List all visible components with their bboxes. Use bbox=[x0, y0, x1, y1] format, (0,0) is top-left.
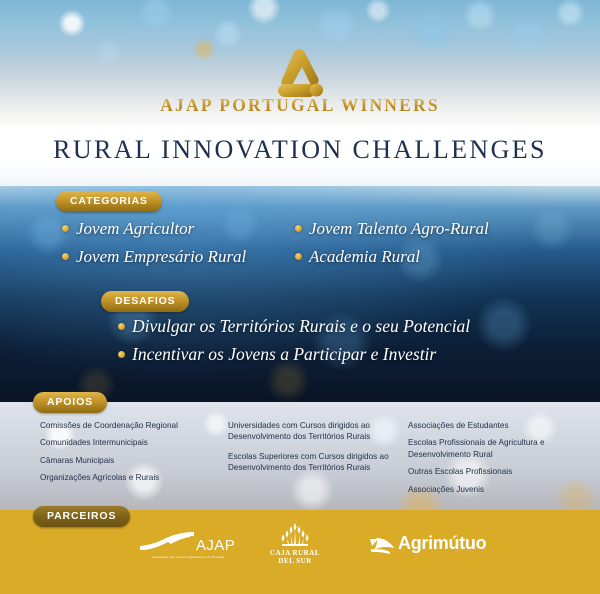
partner-logo-caja-rural-del-sur: CAJA RURAL DEL SUR bbox=[263, 522, 327, 568]
list-item-categoria: Academia Rural bbox=[295, 247, 420, 267]
apoios-item: Associações de Estudantes bbox=[408, 420, 583, 431]
brand-line: AJAP PORTUGAL WINNERS bbox=[0, 95, 600, 116]
agrimutuo-leaf-icon bbox=[368, 535, 396, 557]
ajap-swoosh-icon bbox=[138, 528, 198, 554]
list-item-categoria: Jovem Empresário Rural bbox=[62, 247, 246, 267]
bullet-dot-icon bbox=[62, 225, 69, 232]
list-item-label: Jovem Empresário Rural bbox=[76, 247, 246, 267]
list-item-categoria: Jovem Talento Agro-Rural bbox=[295, 219, 489, 239]
wheat-sheaf-icon bbox=[263, 522, 327, 550]
apoios-item: Comissões de Coordenação Regional bbox=[40, 420, 220, 431]
apoios-item: Associações Juvenis bbox=[408, 484, 583, 495]
bullet-dot-icon bbox=[118, 323, 125, 330]
caja-line-1: CAJA RURAL bbox=[263, 549, 327, 557]
bullet-dot-icon bbox=[62, 253, 69, 260]
badge-desafios: DESAFIOS bbox=[101, 291, 189, 312]
list-item-desafio: Divulgar os Territórios Rurais e o seu P… bbox=[118, 316, 470, 337]
bullet-dot-icon bbox=[295, 225, 302, 232]
apoios-item: Escolas Profissionais de Agricultura e D… bbox=[408, 437, 583, 460]
apoios-item: Organizações Agrícolas e Rurais bbox=[40, 472, 220, 483]
badge-categorias: CATEGORIAS bbox=[56, 191, 162, 212]
list-item-label: Incentivar os Jovens a Participar e Inve… bbox=[132, 344, 436, 365]
apoios-column: Universidades com Cursos dirigidos ao De… bbox=[228, 420, 398, 482]
list-item-label: Divulgar os Territórios Rurais e o seu P… bbox=[132, 316, 470, 337]
page-title: RURAL INNOVATION CHALLENGES bbox=[0, 135, 600, 165]
list-item-categoria: Jovem Agricultor bbox=[62, 219, 194, 239]
caja-line-2: DEL SUR bbox=[263, 557, 327, 565]
poster: AJAP PORTUGAL WINNERS RURAL INNOVATION C… bbox=[0, 0, 600, 594]
apoios-column: Comissões de Coordenação Regional Comuni… bbox=[40, 420, 220, 490]
apoios-item: Escolas Superiores com Cursos dirigidos … bbox=[228, 451, 398, 474]
partner-logo-ajap: AJAP Associação dos Jovens Agricultores … bbox=[138, 528, 238, 566]
bullet-dot-icon bbox=[118, 351, 125, 358]
apoios-columns: Comissões de Coordenação Regional Comuni… bbox=[0, 420, 600, 504]
ajap-wordmark: AJAP bbox=[196, 537, 235, 554]
apoios-item: Câmaras Municipais bbox=[40, 455, 220, 466]
apoios-item: Comunidades Intermunicipais bbox=[40, 437, 220, 448]
badge-apoios: APOIOS bbox=[33, 392, 107, 413]
badge-parceiros: PARCEIROS bbox=[33, 506, 130, 527]
partner-logo-agrimutuo: Agrimútuo bbox=[368, 533, 508, 559]
list-item-label: Jovem Talento Agro-Rural bbox=[309, 219, 489, 239]
list-item-label: Jovem Agricultor bbox=[76, 219, 194, 239]
ajap-tagline: Associação dos Jovens Agricultores de Po… bbox=[138, 555, 238, 559]
apoios-item: Outras Escolas Profissionais bbox=[408, 466, 583, 477]
ajap-triangle-logo-icon bbox=[269, 44, 331, 102]
list-item-label: Academia Rural bbox=[309, 247, 420, 267]
apoios-item: Universidades com Cursos dirigidos ao De… bbox=[228, 420, 398, 443]
apoios-column: Associações de Estudantes Escolas Profis… bbox=[408, 420, 583, 501]
agrimutuo-wordmark: Agrimútuo bbox=[398, 533, 486, 554]
list-item-desafio: Incentivar os Jovens a Participar e Inve… bbox=[118, 344, 436, 365]
bullet-dot-icon bbox=[295, 253, 302, 260]
